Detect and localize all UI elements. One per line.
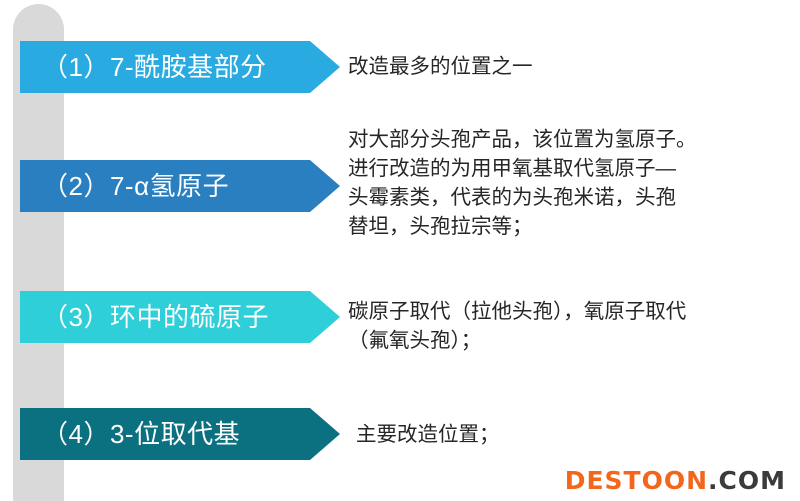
description-text-4: 主要改造位置；	[356, 420, 800, 449]
description-text-3: 碳原子取代（拉他头孢），氧原子取代 （氟氧头孢）；	[348, 297, 792, 355]
arrow-callout-2[interactable]: （2）7-α氢原子	[20, 160, 340, 212]
watermark-tld: .COM	[708, 466, 786, 495]
description-text-1: 改造最多的位置之一	[348, 52, 792, 81]
arrow-label-1: （1）7-酰胺基部分	[20, 54, 267, 80]
arrow-label-3: （3）环中的硫原子	[20, 304, 269, 330]
arrow-callout-3[interactable]: （3）环中的硫原子	[20, 291, 340, 343]
slide-canvas: （1）7-酰胺基部分 改造最多的位置之一 （2）7-α氢原子 对大部分头孢产品，…	[0, 0, 800, 501]
arrow-callout-4[interactable]: （4）3-位取代基	[20, 408, 340, 460]
arrow-callout-1[interactable]: （1）7-酰胺基部分	[20, 41, 340, 93]
arrow-label-2: （2）7-α氢原子	[20, 173, 229, 199]
description-text-2: 对大部分头孢产品，该位置为氢原子。 进行改造的为用甲氧基取代氢原子— 头霉素类，…	[348, 125, 792, 241]
arrow-label-4: （4）3-位取代基	[20, 421, 240, 447]
watermark-brand: DESTOON	[565, 466, 708, 495]
destoon-watermark: DESTOON.COM	[565, 468, 786, 493]
